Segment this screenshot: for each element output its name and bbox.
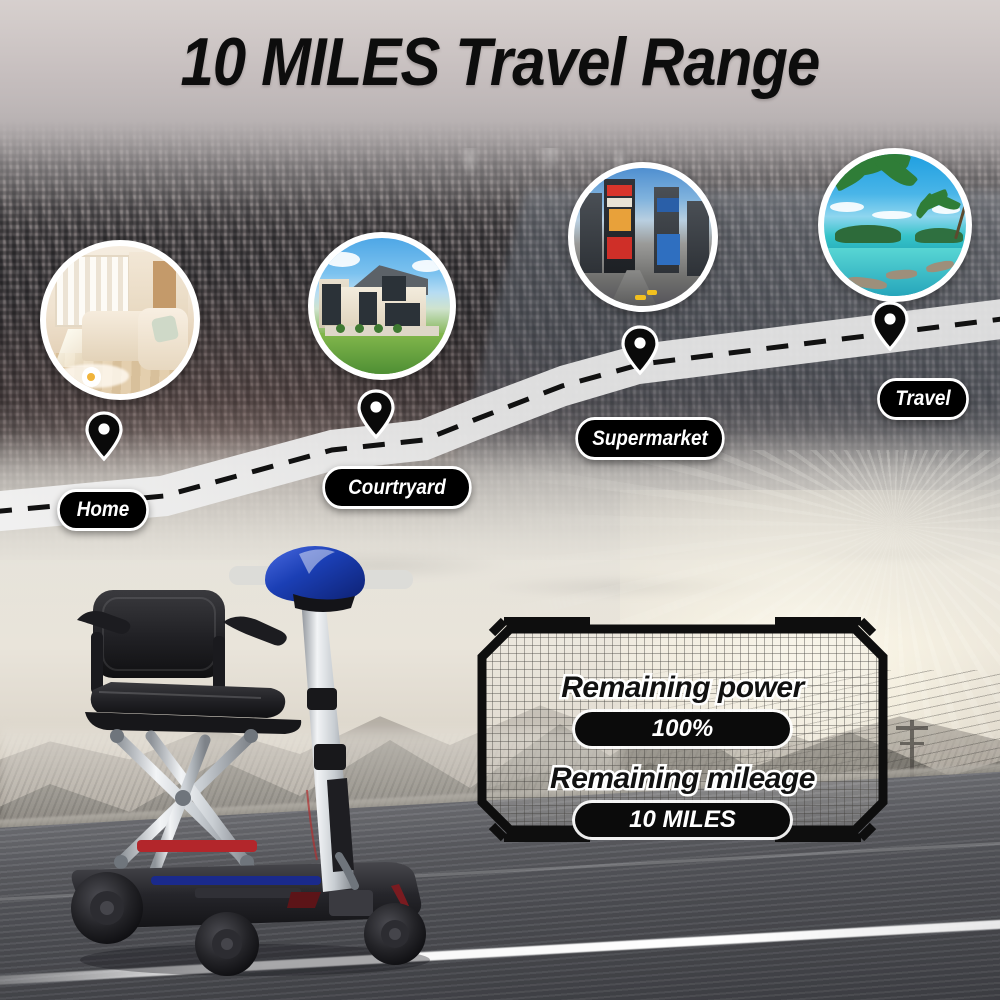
folding-mobility-scooter: [55, 540, 455, 980]
stop-label-courtyard[interactable]: Courtryard: [322, 466, 471, 509]
rear-wheel-left: [71, 872, 143, 944]
map-pin-home[interactable]: [84, 410, 124, 462]
stop-photo-travel[interactable]: [818, 148, 972, 302]
rear-wheel-right: [195, 912, 259, 976]
front-wheel: [364, 903, 426, 965]
stop-label-home[interactable]: Home: [57, 489, 149, 531]
seat-cushion: [85, 682, 301, 734]
seat-backrest: [93, 590, 225, 678]
deck-blue-stripe: [151, 876, 321, 885]
stop-label-supermarket[interactable]: Supermarket: [575, 417, 724, 460]
stop-photo-supermarket[interactable]: [568, 162, 718, 312]
map-pin-travel[interactable]: [870, 300, 910, 352]
column-clamp-lower: [314, 744, 346, 770]
promo-banner: Home Courtryard Supermarket Travel: [0, 0, 1000, 1000]
handlebar-assembly: [229, 546, 413, 612]
page-title: 10 MILES Travel Range: [60, 28, 940, 96]
remaining-power-value: 100%: [575, 712, 790, 746]
frame-red-accent: [137, 840, 257, 852]
map-pin-supermarket[interactable]: [620, 324, 660, 376]
stop-label-travel[interactable]: Travel: [877, 378, 969, 420]
remaining-power-label: Remaining power: [470, 671, 895, 705]
steering-column: [301, 598, 355, 892]
remaining-mileage-label: Remaining mileage: [470, 762, 895, 796]
status-hud-panel: Remaining power 100% Remaining mileage 1…: [470, 617, 895, 842]
stop-photo-courtyard[interactable]: [308, 232, 456, 380]
battery-box: [329, 890, 373, 916]
map-pin-courtyard[interactable]: [356, 388, 396, 440]
remaining-mileage-value: 10 MILES: [575, 803, 790, 837]
stop-photo-home[interactable]: [40, 240, 200, 400]
column-clamp-upper: [307, 688, 337, 710]
